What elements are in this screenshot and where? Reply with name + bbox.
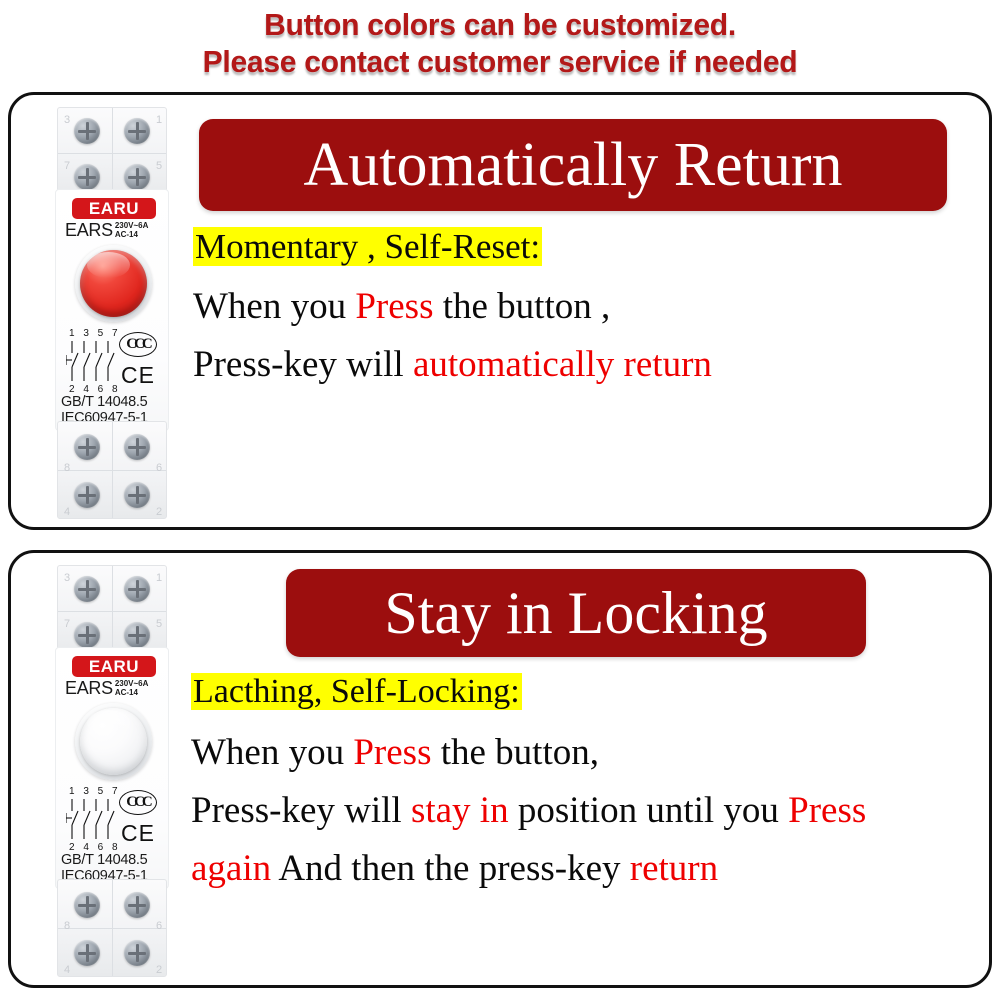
terminal-screw — [74, 434, 100, 460]
terminal-block-bottom: 8 6 4 2 — [57, 421, 167, 519]
certification-marks: CCC CE — [114, 790, 162, 845]
device-faceplate: EARU EARS 230V~6A AC-14 1 — [55, 647, 169, 889]
body-text: When you — [193, 286, 355, 327]
body-text: When you — [191, 732, 353, 773]
description-line: When you Press the button , — [193, 285, 610, 328]
emphasis-text: again — [191, 848, 271, 889]
model-label: EARS — [65, 221, 113, 240]
rating-label: 230V~6A AC-14 — [115, 679, 149, 697]
terminal-screw — [74, 940, 100, 966]
terminal-number: 7 — [64, 618, 70, 630]
highlighted-label: Momentary , Self-Reset: — [193, 227, 542, 266]
terminal-number: 6 — [156, 462, 162, 474]
terminal-screw — [74, 576, 100, 602]
standard-label-1: GB/T 14048.5 — [61, 394, 169, 411]
terminal-screw — [124, 892, 150, 918]
header-line-1: Button colors can be customized. — [15, 6, 985, 43]
body-text: And then the press-key — [271, 848, 630, 889]
ccc-mark-icon: CCC — [119, 332, 157, 357]
description-line: again And then the press-key return — [191, 847, 718, 890]
rating-category: AC-14 — [115, 230, 138, 239]
terminal-block-bottom: 8 6 4 2 — [57, 879, 167, 977]
device-stay-in-locking: 3 1 7 5 EARU EARS 230V~6A AC-14 — [51, 561, 173, 981]
description-line: Press-key will stay in position until yo… — [191, 789, 866, 832]
housing-seam-vertical — [112, 108, 113, 198]
panel-stay-in-locking: 3 1 7 5 EARU EARS 230V~6A AC-14 — [8, 550, 992, 988]
emphasis-text: Press — [355, 286, 433, 327]
panel-title-stay-in-locking: Stay in Locking — [286, 569, 866, 657]
device-faceplate: EARU EARS 230V~6A AC-14 1 — [55, 189, 169, 431]
emphasis-text: Press — [788, 790, 866, 831]
brand-logo: EARU — [72, 198, 156, 219]
housing-seam-vertical — [112, 880, 113, 976]
emphasis-text: stay in — [411, 790, 509, 831]
terminal-number: 5 — [156, 618, 162, 630]
terminal-screw — [124, 576, 150, 602]
highlighted-label: Lacthing, Self-Locking: — [191, 673, 522, 710]
ce-mark-icon: CE — [114, 821, 162, 845]
device-automatically-return: 3 1 7 5 EARU EARS 230V~6A AC-14 — [51, 103, 173, 523]
terminal-number: 2 — [156, 506, 162, 518]
device-housing: 3 1 7 5 EARU EARS 230V~6A AC-14 — [51, 561, 173, 981]
rating-category: AC-14 — [115, 688, 138, 697]
panel-title-automatically-return: Automatically Return — [199, 119, 947, 211]
terminal-screw — [124, 118, 150, 144]
button-cap — [80, 708, 147, 775]
standard-label-1: GB/T 14048.5 — [61, 852, 169, 869]
ce-mark-icon: CE — [114, 363, 162, 387]
header-line-2: Please contact customer service if neede… — [15, 43, 985, 80]
body-text: Lacthing, Self-Locking: — [193, 673, 520, 710]
terminal-block-top: 3 1 7 5 — [57, 565, 167, 657]
terminal-number: 8 — [64, 920, 70, 932]
terminal-screw — [74, 118, 100, 144]
terminal-number: 5 — [156, 160, 162, 172]
ccc-mark-label: CCC — [120, 793, 156, 812]
terminal-screw — [124, 482, 150, 508]
terminal-number: 4 — [64, 506, 70, 518]
emphasis-text: return — [630, 848, 718, 889]
emphasis-text: Press — [353, 732, 431, 773]
terminal-number: 1 — [156, 572, 162, 584]
terminal-number: 8 — [64, 462, 70, 474]
model-rating-row: EARS 230V~6A AC-14 — [65, 679, 165, 698]
terminal-screw — [74, 622, 100, 648]
infographic-page: Button colors can be customized. Please … — [0, 0, 1000, 1000]
terminal-screw — [124, 940, 150, 966]
model-rating-row: EARS 230V~6A AC-14 — [65, 221, 165, 240]
panel-automatically-return: 3 1 7 5 EARU EARS 230V~6A AC-14 — [8, 92, 992, 530]
terminal-number: 7 — [64, 160, 70, 172]
emphasis-text: automatically return — [413, 344, 712, 385]
body-text: the button , — [433, 286, 610, 327]
header-note: Button colors can be customized. Please … — [15, 6, 985, 80]
description-line: Momentary , Self-Reset: — [193, 227, 542, 267]
ccc-mark-icon: CCC — [119, 790, 157, 815]
model-label: EARS — [65, 679, 113, 698]
housing-seam-vertical — [112, 422, 113, 518]
body-text: Press-key will — [191, 790, 411, 831]
terminal-screw — [124, 164, 150, 190]
brand-logo: EARU — [72, 656, 156, 677]
terminal-screw — [124, 434, 150, 460]
device-housing: 3 1 7 5 EARU EARS 230V~6A AC-14 — [51, 103, 173, 523]
description-line: Lacthing, Self-Locking: — [191, 673, 522, 711]
body-text: the button, — [431, 732, 599, 773]
terminal-screw — [74, 164, 100, 190]
terminal-number: 3 — [64, 572, 70, 584]
terminal-screw — [74, 482, 100, 508]
terminal-screw — [74, 892, 100, 918]
terminal-screw — [124, 622, 150, 648]
rating-voltage: 230V~6A — [115, 679, 149, 688]
description-line: When you Press the button, — [191, 731, 599, 774]
push-button-white[interactable] — [75, 703, 152, 780]
description-line: Press-key will automatically return — [193, 343, 712, 386]
body-text: position until you — [509, 790, 789, 831]
body-text: Press-key will — [193, 344, 413, 385]
push-button-red[interactable] — [75, 245, 152, 322]
rating-voltage: 230V~6A — [115, 221, 149, 230]
terminal-number: 6 — [156, 920, 162, 932]
terminal-number: 3 — [64, 114, 70, 126]
terminal-number: 2 — [156, 964, 162, 976]
body-text: Momentary , Self-Reset: — [195, 227, 540, 266]
ccc-mark-label: CCC — [120, 335, 156, 354]
rating-label: 230V~6A AC-14 — [115, 221, 149, 239]
terminal-number: 4 — [64, 964, 70, 976]
terminal-number: 1 — [156, 114, 162, 126]
button-cap — [80, 250, 147, 317]
terminal-block-top: 3 1 7 5 — [57, 107, 167, 199]
certification-marks: CCC CE — [114, 332, 162, 387]
housing-seam-vertical — [112, 566, 113, 656]
